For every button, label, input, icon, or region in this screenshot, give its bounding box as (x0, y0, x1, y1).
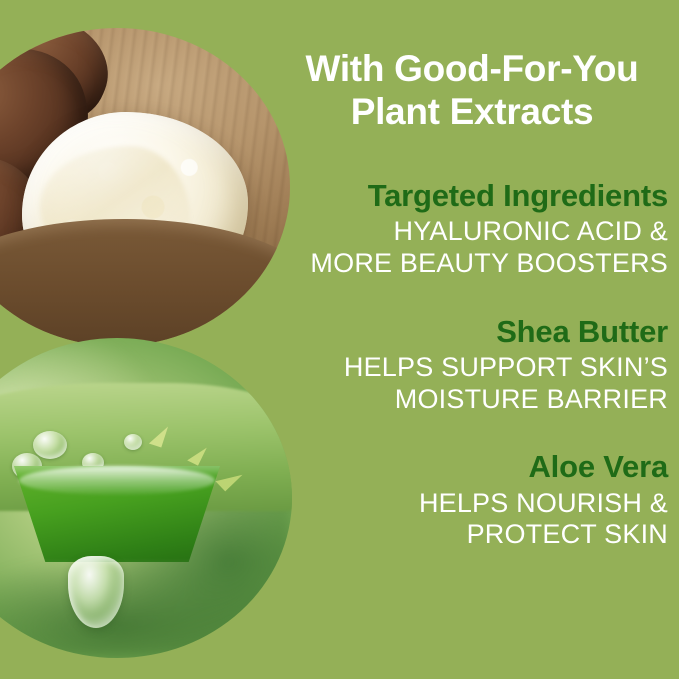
shea-butter-photo (0, 28, 290, 346)
ingredient-name-targeted-ingredients: Targeted Ingredients (276, 178, 668, 215)
ingredient-desc-shea-butter: HELPS SUPPORT SKIN’S MOISTURE BARRIER (276, 352, 668, 415)
water-droplet-icon (33, 431, 67, 459)
ingredient-desc-line: MORE BEAUTY BOOSTERS (276, 248, 668, 280)
aloe-cut-sheen (19, 466, 215, 495)
ingredient-desc-aloe-vera: HELPS NOURISH & PROTECT SKIN (276, 488, 668, 551)
ingredient-desc-line: PROTECT SKIN (276, 519, 668, 551)
ingredient-desc-line: MOISTURE BARRIER (276, 384, 668, 416)
product-feature-graphic: With Good-For-You Plant Extracts Targete… (0, 0, 679, 679)
headline-line-1: With Good-For-You (306, 48, 639, 89)
ingredient-block-shea-butter: Shea Butter HELPS SUPPORT SKIN’S MOISTUR… (276, 314, 668, 416)
copy-column: With Good-For-You Plant Extracts Targete… (276, 0, 668, 551)
ingredient-desc-targeted-ingredients: HYALURONIC ACID & MORE BEAUTY BOOSTERS (276, 216, 668, 279)
ingredient-desc-line: HELPS NOURISH & (276, 488, 668, 520)
wood-board-edge (0, 219, 290, 346)
ingredient-block-targeted-ingredients: Targeted Ingredients HYALURONIC ACID & M… (276, 178, 668, 280)
ingredient-desc-line: HELPS SUPPORT SKIN’S (276, 352, 668, 384)
ingredient-desc-line: HYALURONIC ACID & (276, 216, 668, 248)
ingredient-name-shea-butter: Shea Butter (276, 314, 668, 351)
headline-line-2: Plant Extracts (351, 91, 594, 132)
water-droplet-icon (124, 434, 142, 450)
ingredient-block-aloe-vera: Aloe Vera HELPS NOURISH & PROTECT SKIN (276, 449, 668, 551)
page-title: With Good-For-You Plant Extracts (276, 0, 668, 134)
ingredient-name-aloe-vera: Aloe Vera (276, 449, 668, 486)
aloe-vera-photo (0, 338, 292, 658)
